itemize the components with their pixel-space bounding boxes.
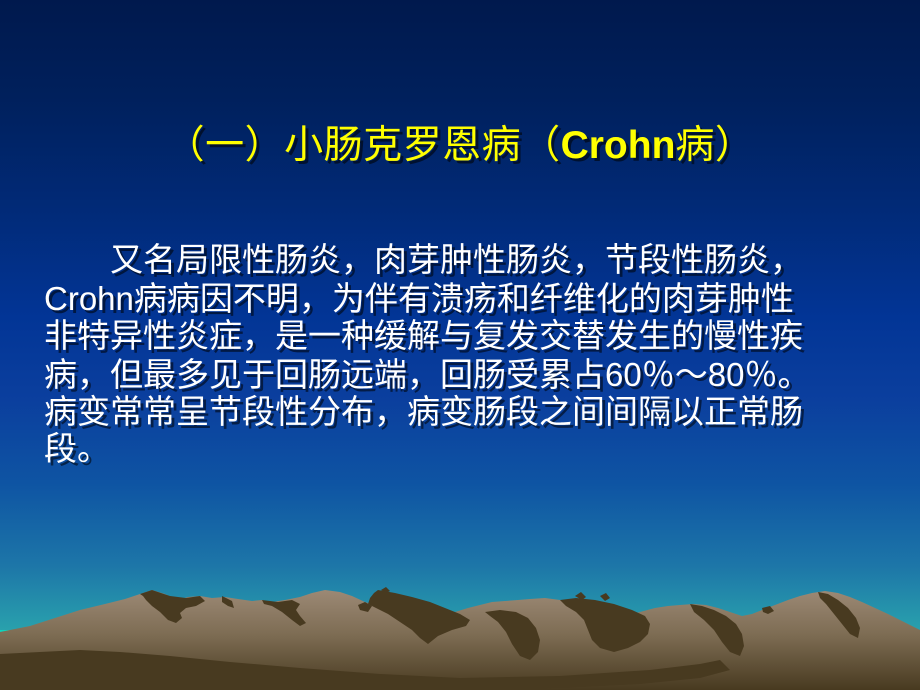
slide-title: （一）小肠克罗恩病（Crohn病）	[0, 124, 920, 168]
title-prefix: （一）小肠克罗恩病（	[166, 124, 561, 167]
body-cjk-text: 又名局限性肠炎，肉芽肿性肠炎，节段性肠炎，	[110, 243, 803, 279]
body-cjk-text: 非特异性炎症，是一种缓解与复发交替发生的慢性疾	[44, 319, 803, 355]
mountain-landscape-graphic	[0, 560, 920, 690]
body-cjk-text: 段。	[44, 432, 110, 468]
body-cjk-text: ％。	[744, 358, 810, 394]
body-cjk-text: 病变常常呈节段性分布，病变肠段之间间隔以正常肠	[44, 395, 803, 431]
body-latin-text: 60	[605, 356, 642, 393]
body-line: 又名局限性肠炎，肉芽肿性肠炎，节段性肠炎，	[44, 243, 890, 280]
body-cjk-text: ％～	[642, 358, 708, 394]
body-line: 病，但最多见于回肠远端，回肠受累占60％～80％。	[44, 356, 890, 395]
body-latin-text: 80	[708, 356, 745, 393]
body-latin-text: Crohn	[44, 280, 134, 317]
body-cjk-text: 病，但最多见于回肠远端，回肠受累占	[44, 358, 605, 394]
body-line: 段。	[44, 432, 890, 469]
body-line: 病变常常呈节段性分布，病变肠段之间间隔以正常肠	[44, 395, 890, 432]
presentation-slide: （一）小肠克罗恩病（Crohn病） 又名局限性肠炎，肉芽肿性肠炎，节段性肠炎，C…	[0, 0, 920, 690]
body-line: Crohn病病因不明，为伴有溃疡和纤维化的肉芽肿性	[44, 280, 890, 319]
body-line: 非特异性炎症，是一种缓解与复发交替发生的慢性疾	[44, 319, 890, 356]
title-latin-crohn: Crohn	[561, 124, 676, 167]
slide-body-text: 又名局限性肠炎，肉芽肿性肠炎，节段性肠炎，Crohn病病因不明，为伴有溃疡和纤维…	[44, 243, 890, 469]
body-cjk-text: 病病因不明，为伴有溃疡和纤维化的肉芽肿性	[134, 282, 794, 318]
title-suffix: 病）	[675, 124, 754, 167]
